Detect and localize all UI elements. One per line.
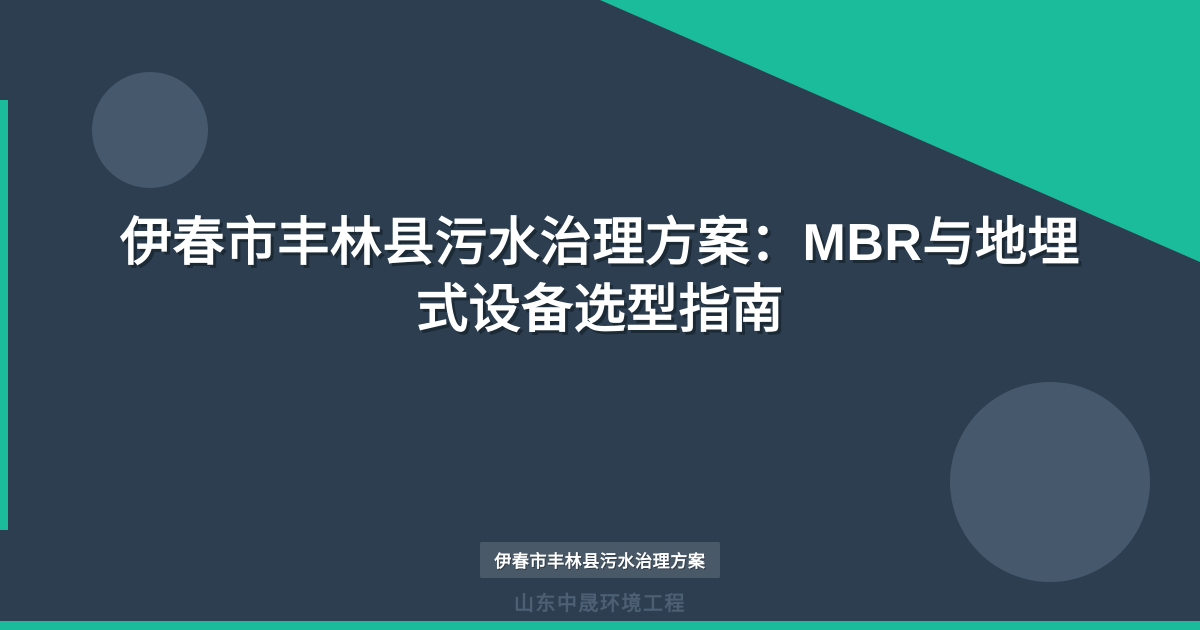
- title-card: 伊春市丰林县污水治理方案：MBR与地埋式设备选型指南 伊春市丰林县污水治理方案 …: [0, 0, 1200, 630]
- footer-brand-watermark: 山东中晟环境工程: [514, 587, 686, 616]
- footer: 伊春市丰林县污水治理方案 山东中晟环境工程: [0, 542, 1200, 616]
- title-area: 伊春市丰林县污水治理方案：MBR与地埋式设备选型指南: [0, 0, 1200, 630]
- footer-topic-badge: 伊春市丰林县污水治理方案: [480, 542, 719, 578]
- page-title: 伊春市丰林县污水治理方案：MBR与地埋式设备选型指南: [110, 210, 1090, 343]
